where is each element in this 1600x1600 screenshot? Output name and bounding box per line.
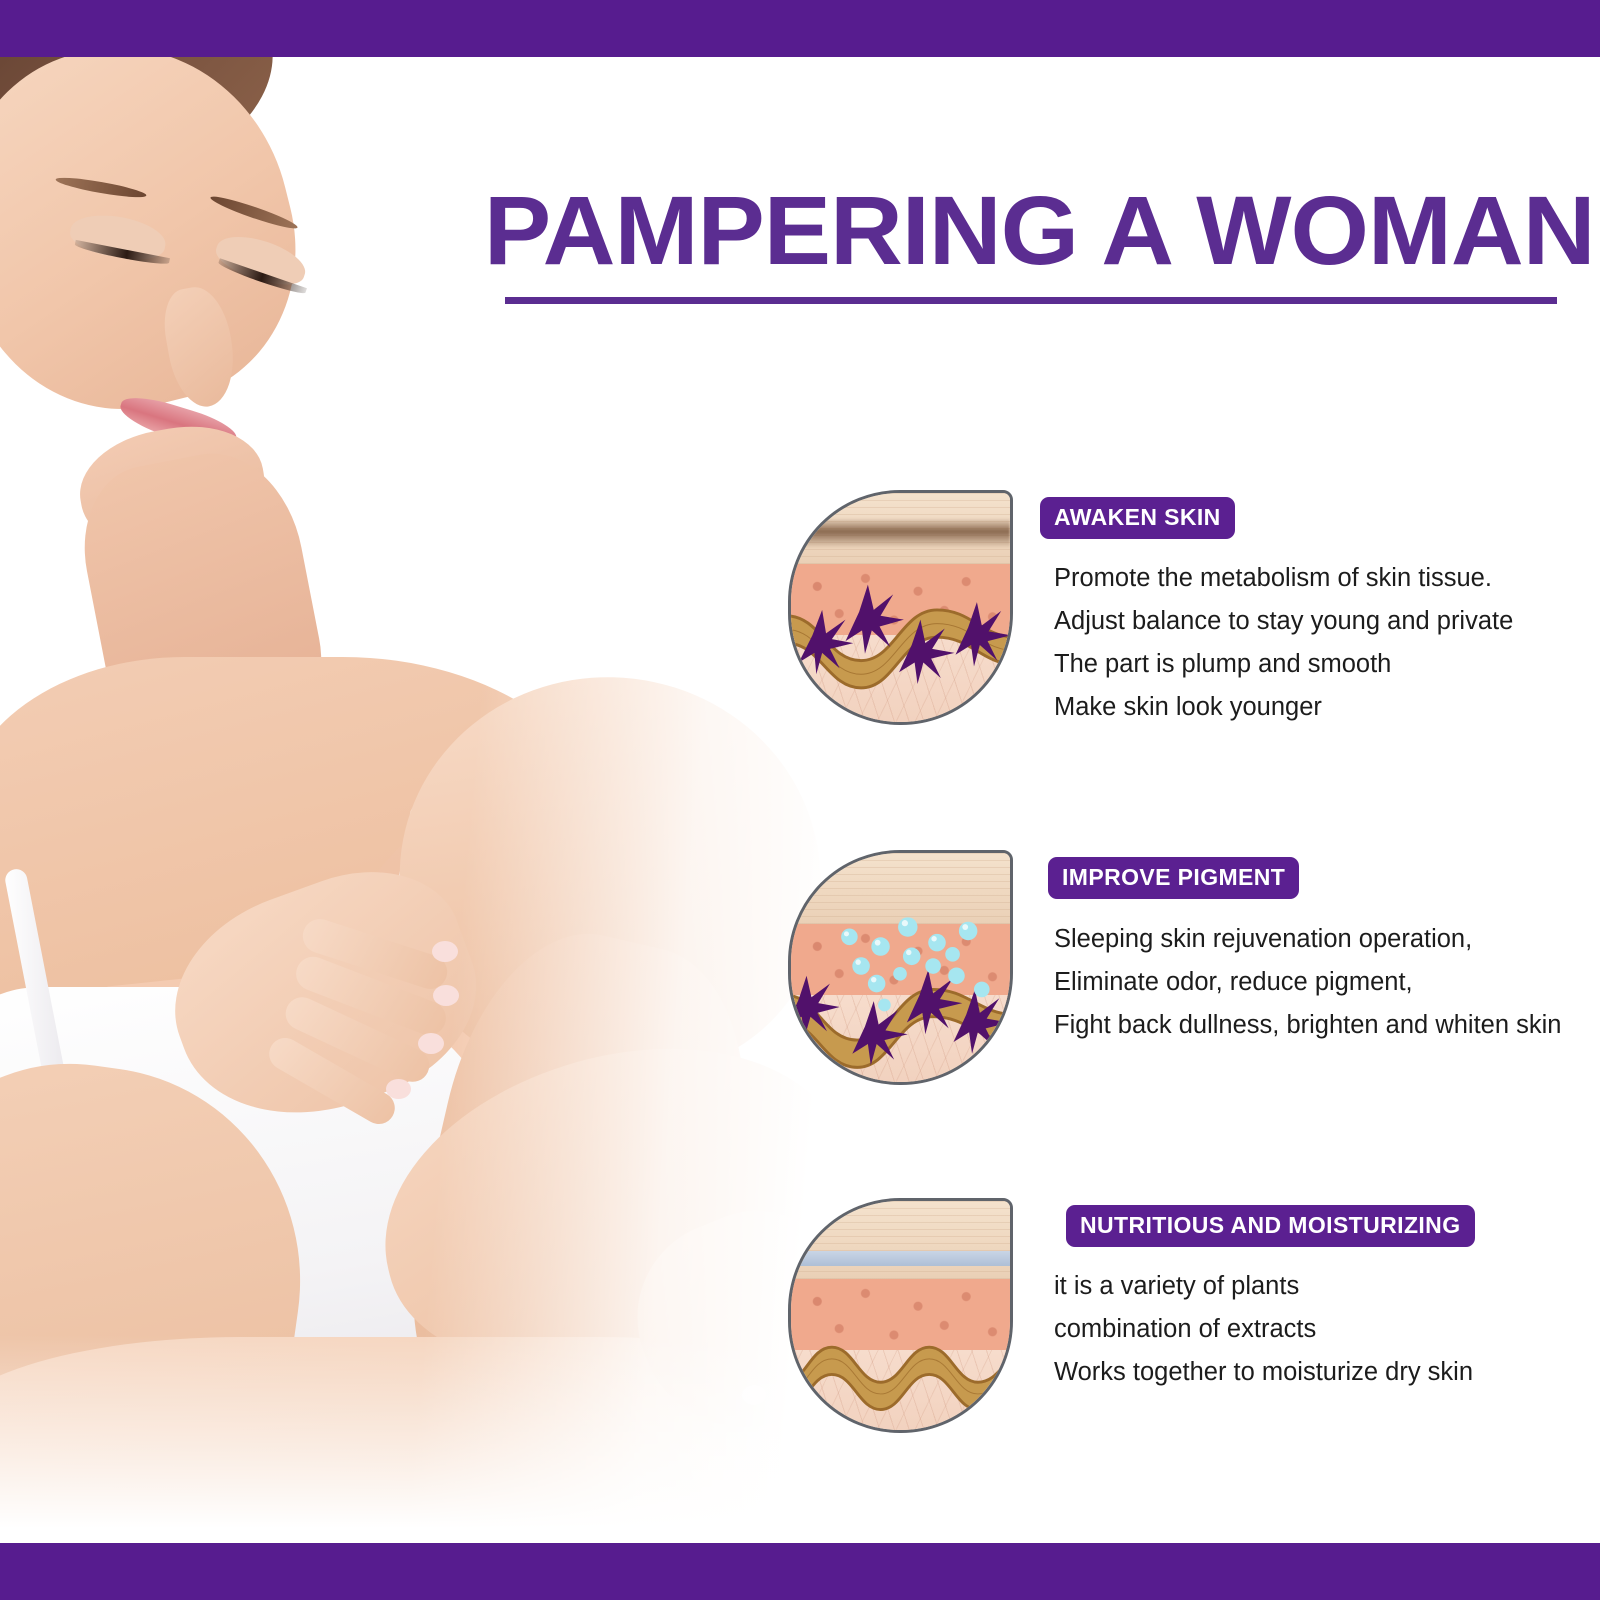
title-underline	[505, 297, 1557, 304]
fingernail	[432, 941, 458, 962]
bottom-purple-bar	[0, 1543, 1600, 1600]
copy-line: Fight back dullness, brighten and whiten…	[1054, 1004, 1561, 1047]
copy-line: combination of extracts	[1054, 1308, 1473, 1351]
feature-copy-awaken-skin: Promote the metabolism of skin tissue. A…	[1054, 557, 1513, 729]
copy-line: Sleeping skin rejuvenation operation,	[1054, 918, 1561, 961]
copy-line: Eliminate odor, reduce pigment,	[1054, 961, 1561, 1004]
copy-line: Adjust balance to stay young and private	[1054, 600, 1513, 643]
badge-label: NUTRITIOUS AND MOISTURIZING	[1080, 1212, 1461, 1238]
fingernail	[418, 1033, 444, 1054]
page-title-text: PAMPERING A WOMAN	[484, 182, 1581, 279]
top-purple-bar	[0, 0, 1600, 57]
page-title: PAMPERING A WOMAN	[505, 182, 1560, 279]
fingernail	[742, 1385, 766, 1405]
feature-copy-nutritious-moisturizing: it is a variety of plants combination of…	[1054, 1265, 1473, 1394]
feature-copy-improve-pigment: Sleeping skin rejuvenation operation, El…	[1054, 918, 1561, 1047]
copy-line: Works together to moisturize dry skin	[1054, 1351, 1473, 1394]
fingernail	[433, 985, 459, 1006]
badge-label: AWAKEN SKIN	[1054, 504, 1221, 530]
copy-line: The part is plump and smooth	[1054, 643, 1513, 686]
badge-nutritious-moisturizing: NUTRITIOUS AND MOISTURIZING	[1066, 1205, 1475, 1247]
badge-awaken-skin: AWAKEN SKIN	[1040, 497, 1235, 539]
copy-line: Make skin look younger	[1054, 686, 1513, 729]
badge-improve-pigment: IMPROVE PIGMENT	[1048, 857, 1299, 899]
infographic-page: PAMPERING A WOMAN	[0, 0, 1600, 1600]
copy-line: Promote the metabolism of skin tissue.	[1054, 557, 1513, 600]
fingernail	[386, 1079, 411, 1099]
copy-line: it is a variety of plants	[1054, 1265, 1473, 1308]
badge-label: IMPROVE PIGMENT	[1062, 864, 1285, 890]
